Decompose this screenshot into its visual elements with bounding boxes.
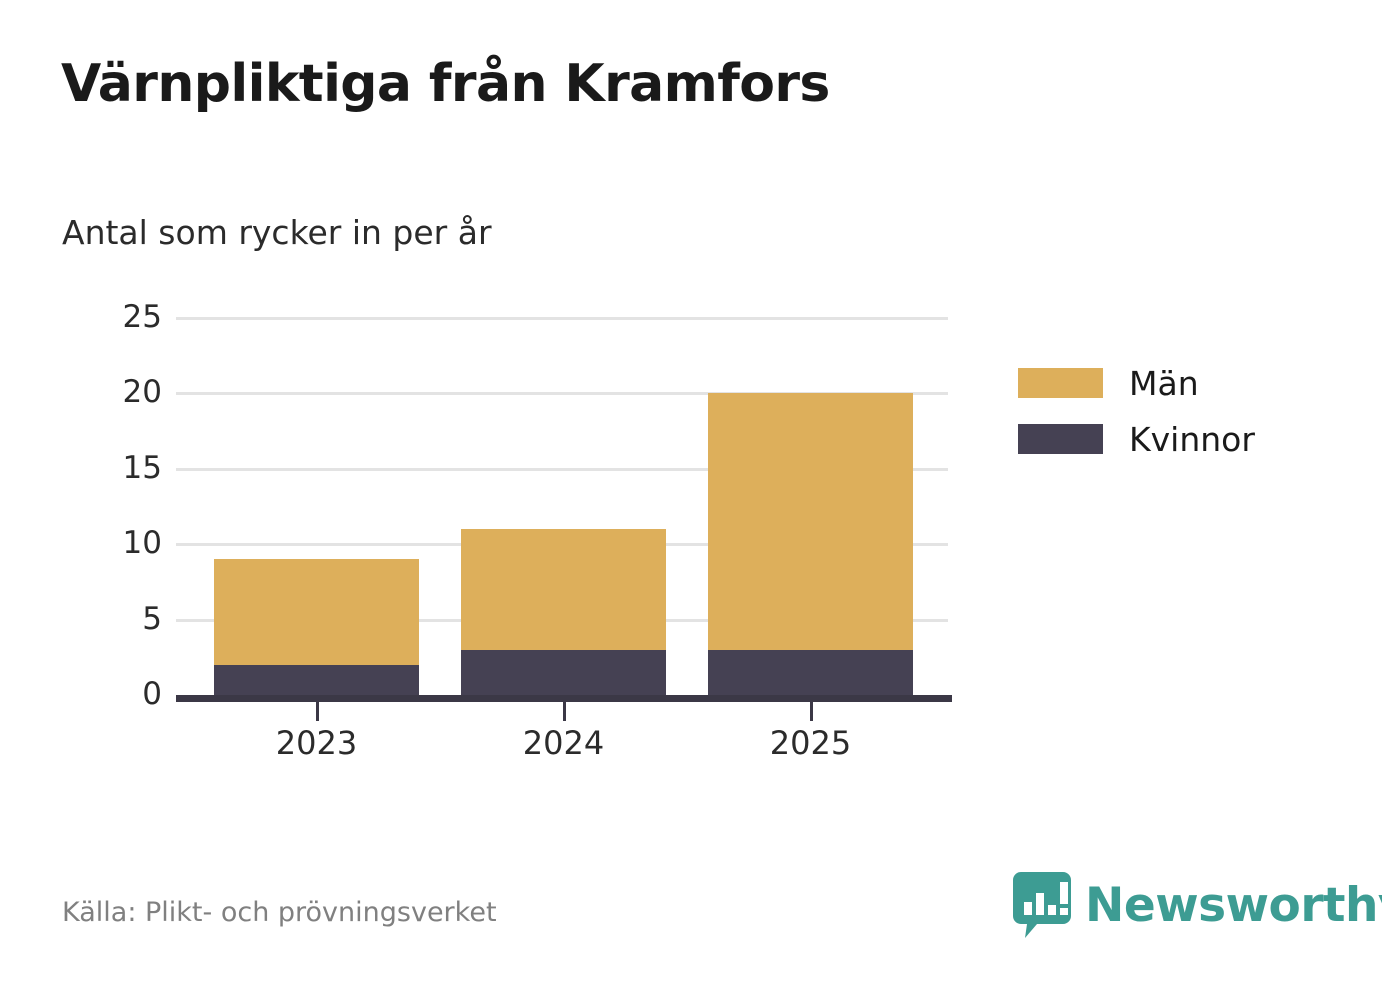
x-axis-tick-label-2023: 2023 <box>217 724 417 762</box>
chart-subtitle: Antal som rycker in per år <box>62 213 492 253</box>
bar-segment-män-2024[interactable] <box>461 529 666 650</box>
brand-logo: Newsworthy <box>1013 872 1382 938</box>
y-axis-tick-label: 25 <box>92 302 162 333</box>
source-note: Källa: Plikt- och prövningsverket <box>62 897 497 929</box>
legend-item-män[interactable]: Män <box>1018 355 1255 411</box>
y-axis-tick-label: 0 <box>92 679 162 710</box>
bar-segment-kvinnor-2023[interactable] <box>214 665 419 695</box>
legend-swatch <box>1018 368 1103 398</box>
brand-name: Newsworthy <box>1085 882 1382 929</box>
bar-stack-2023[interactable] <box>214 559 419 695</box>
chart-legend: MänKvinnor <box>1018 355 1255 467</box>
bar-stack-2025[interactable] <box>708 393 913 695</box>
gridline <box>176 317 948 320</box>
x-axis-tick-label-2025: 2025 <box>711 724 911 762</box>
y-axis-tick-label: 5 <box>92 604 162 635</box>
bar-stack-2024[interactable] <box>461 529 666 695</box>
legend-item-kvinnor[interactable]: Kvinnor <box>1018 411 1255 467</box>
y-axis-tick-label: 10 <box>92 528 162 559</box>
bar-segment-män-2025[interactable] <box>708 393 913 649</box>
y-axis-labels: 0510152025 <box>92 300 162 715</box>
legend-swatch <box>1018 424 1103 454</box>
plot-area: 202320242025 <box>176 300 948 715</box>
x-axis-line <box>176 695 952 702</box>
chart-page: Värnpliktiga från Kramfors Antal som ryc… <box>0 0 1382 999</box>
bar-segment-kvinnor-2024[interactable] <box>461 650 666 695</box>
legend-label: Kvinnor <box>1129 423 1255 456</box>
page-title: Värnpliktiga från Kramfors <box>61 56 830 113</box>
bar-segment-män-2023[interactable] <box>214 559 419 665</box>
y-axis-tick-label: 15 <box>92 453 162 484</box>
x-axis-tick-label-2024: 2024 <box>464 724 664 762</box>
legend-label: Män <box>1129 367 1199 400</box>
bar-chart-speech-bubble-icon <box>1013 872 1071 938</box>
x-axis-tick <box>810 702 813 721</box>
bar-segment-kvinnor-2025[interactable] <box>708 650 913 695</box>
x-axis-tick <box>563 702 566 721</box>
y-axis-tick-label: 20 <box>92 377 162 408</box>
x-axis-tick <box>316 702 319 721</box>
